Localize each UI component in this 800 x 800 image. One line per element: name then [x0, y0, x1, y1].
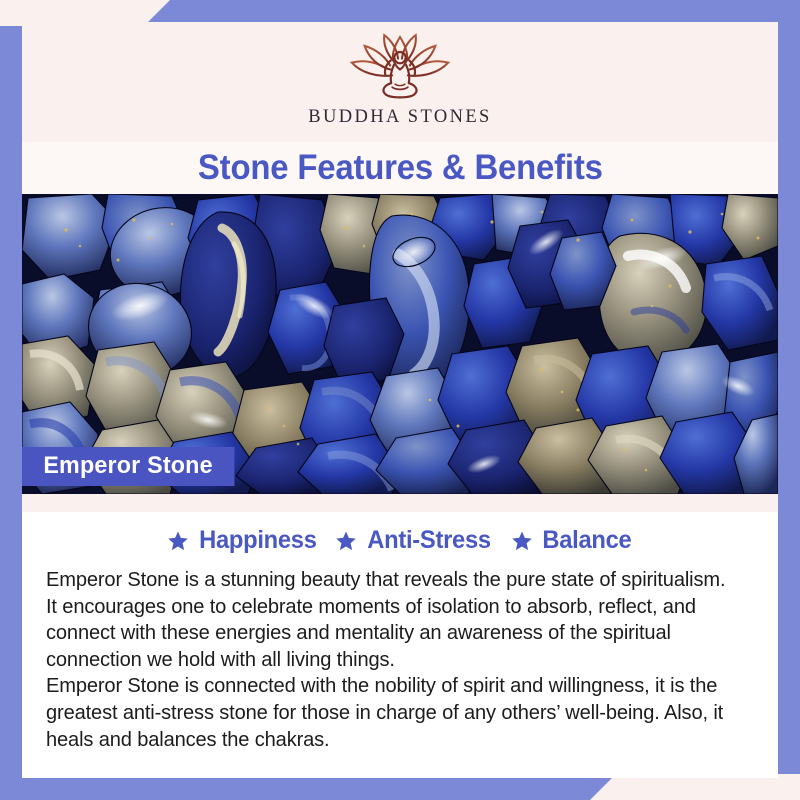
title-band: Stone Features & Benefits	[22, 142, 778, 194]
brand-header: BUDDHA STONES	[22, 22, 778, 142]
body-copy-line: It encourages one to celebrate moments o…	[46, 594, 743, 621]
frame-strip-bottom-right	[778, 774, 800, 800]
content-section: Happiness Anti-Stress Balance Emperor S	[22, 494, 778, 778]
body-copy: Emperor Stone is a stunning beauty that …	[36, 563, 764, 753]
star-icon	[335, 530, 357, 552]
brand-wordmark: BUDDHA STONES	[308, 107, 492, 128]
benefit-label: Happiness	[199, 526, 317, 555]
stone-name-banner: Emperor Stone	[22, 447, 234, 486]
section-divider	[22, 494, 778, 512]
star-icon	[167, 530, 189, 552]
star-icon	[511, 530, 533, 552]
stone-photo-band: Emperor Stone	[22, 194, 778, 494]
benefit-label: Anti-Stress	[368, 526, 492, 555]
body-copy-line: greatest anti-stress stone for those in …	[46, 700, 743, 727]
page-title: Stone Features & Benefits	[198, 148, 603, 188]
benefits-row: Happiness Anti-Stress Balance	[36, 512, 764, 563]
benefit-label: Balance	[542, 526, 631, 555]
body-copy-line: connect with these energies and mentalit…	[46, 620, 743, 647]
body-copy-line: connection we hold with all living thing…	[46, 647, 743, 674]
lotus-meditation-figure-icon	[341, 30, 459, 104]
benefit-item-happiness: Happiness	[167, 526, 320, 555]
frame-strip-top-left	[0, 0, 22, 26]
body-copy-line: Emperor Stone is connected with the nobi…	[46, 673, 743, 700]
body-copy-line: Emperor Stone is a stunning beauty that …	[46, 567, 743, 594]
benefit-item-anti-stress: Anti-Stress	[335, 526, 494, 555]
content-card: BUDDHA STONES Stone Features & Benefits	[22, 22, 778, 778]
body-copy-line: heals and balances the chakras.	[46, 727, 743, 754]
benefit-item-balance: Balance	[511, 526, 634, 555]
infographic-card: BUDDHA STONES Stone Features & Benefits	[0, 0, 800, 800]
